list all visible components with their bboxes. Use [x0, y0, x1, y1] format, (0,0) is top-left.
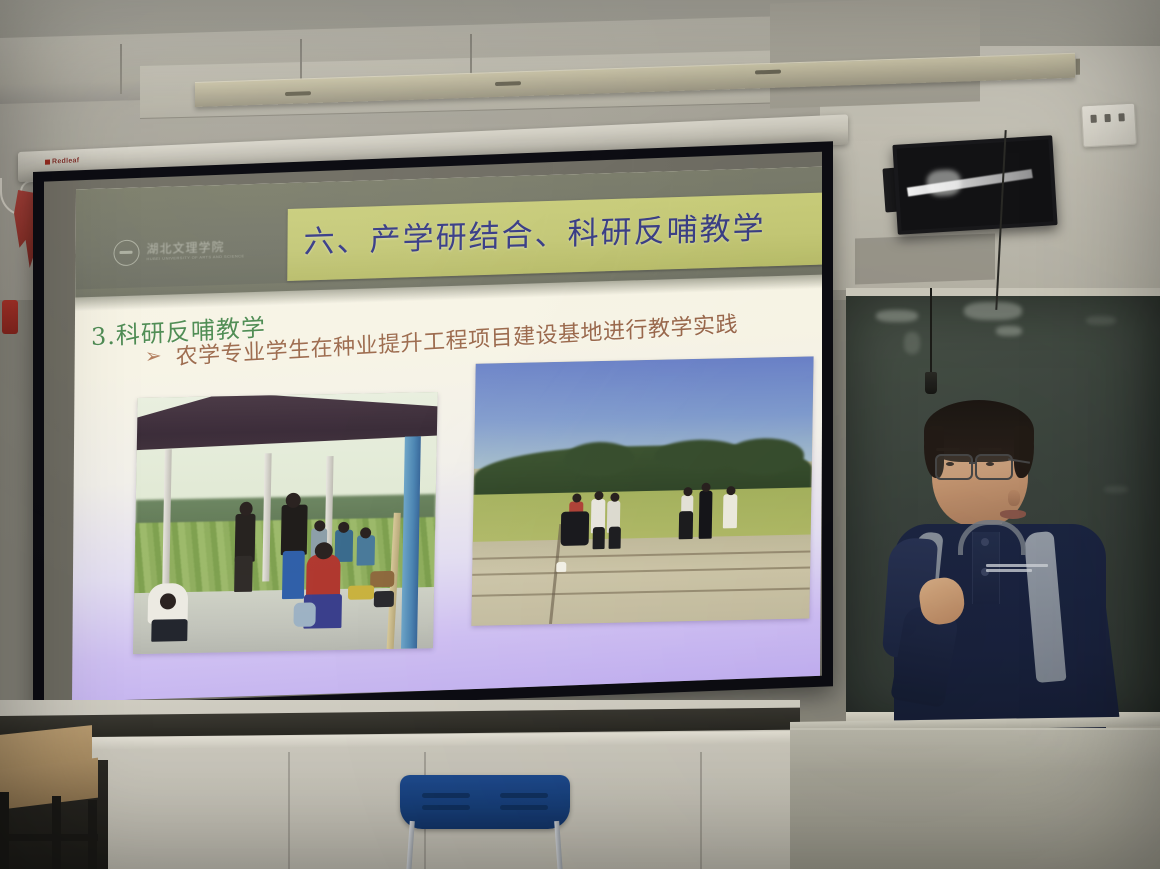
bullet-arrow-icon: ➢ [145, 346, 162, 367]
presenter-nose [1008, 490, 1020, 506]
projection-screen-surface: 六、产学研结合、科研反哺教学 湖北文理学院 HUBEI UNIVERSITY O… [44, 152, 822, 706]
classroom-photo-scene: Redleaf 六、产学研结合、科研反哺教学 湖北文理学院 HUBEI UNIV… [0, 0, 1160, 869]
hanging-cable [930, 288, 932, 380]
ceiling-vent-plate [770, 0, 980, 109]
eyeglasses-lens-left [935, 454, 973, 480]
logo-name-en: HUBEI UNIVERSITY OF ARTS AND SCIENCE [146, 254, 244, 261]
fire-extinguisher [2, 300, 18, 334]
tv-screen-glare [907, 169, 1033, 197]
teaching-lectern[interactable] [790, 728, 1160, 869]
blue-classroom-chair[interactable] [400, 775, 570, 869]
slide-photo-shelter [133, 392, 438, 654]
university-logo: 湖北文理学院 HUBEI UNIVERSITY OF ARTS AND SCIE… [113, 236, 244, 266]
shirt-chest-print [986, 564, 1048, 576]
slide-body: 3.科研反哺教学 ➢ 农学专业学生在种业提升工程项目建设基地进行教学实践 [72, 275, 822, 702]
chair-backrest [400, 775, 570, 829]
screen-brand-text: Redleaf [52, 157, 79, 165]
stacked-wooden-stools [0, 730, 110, 869]
wall-socket-box[interactable] [1081, 103, 1137, 148]
ceiling-vent-plate [855, 234, 995, 285]
cable-weight [925, 372, 937, 394]
presenter-hair-side [1014, 426, 1034, 478]
eyeglasses-bridge [969, 462, 977, 464]
presenter-mouth [1000, 510, 1026, 519]
logo-emblem-icon [113, 239, 139, 266]
slide-photo-field [471, 356, 813, 626]
presentation-slide: 六、产学研结合、科研反哺教学 湖北文理学院 HUBEI UNIVERSITY O… [72, 167, 822, 702]
chair-leg [406, 821, 415, 869]
wall-mounted-tv[interactable] [892, 135, 1057, 235]
chair-leg [554, 821, 563, 869]
projection-screen-frame: 六、产学研结合、科研反哺教学 湖北文理学院 HUBEI UNIVERSITY O… [33, 141, 833, 717]
presenter [880, 392, 1120, 752]
ceiling-panel-seam [120, 44, 122, 94]
